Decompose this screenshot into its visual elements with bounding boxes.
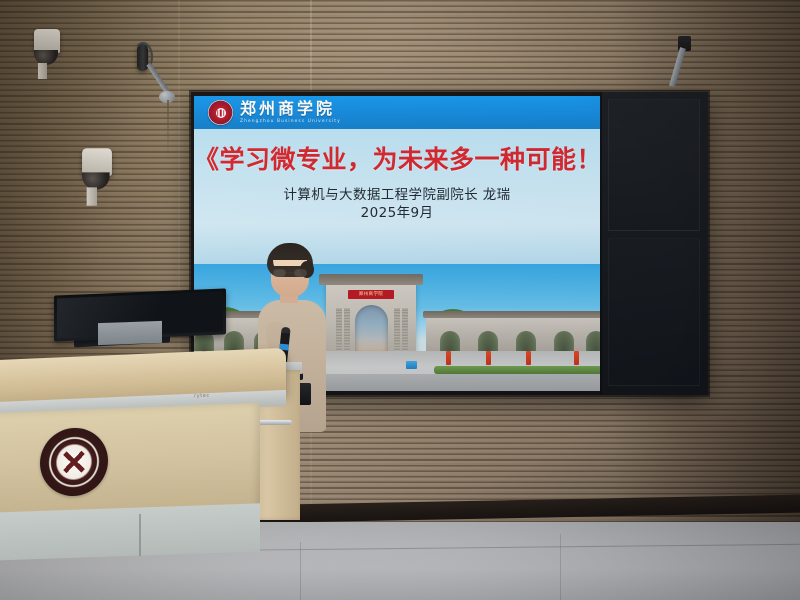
slide-header-bar: 郑州商学院 Zhengzhou Business University [194,96,600,129]
dome-camera [82,148,112,206]
spotlight [678,36,691,51]
lectern-podium: rytec [0,330,294,580]
secondary-display-panel [600,92,708,395]
dome-camera [34,29,60,79]
info-sign [406,361,417,369]
podium-brand-text: rytec [194,393,210,400]
slide-title: 《学习微专业，为未来多一种可能！》 [194,140,600,176]
spotlight [137,44,148,71]
banner [446,351,451,365]
banner [526,351,531,365]
university-name-block: 郑州商学院 Zhengzhou Business University [240,101,341,124]
main-gate: 郑州商学院 [326,280,416,354]
university-crest-logo [208,100,233,125]
podium-base-seam [139,514,141,556]
slide-subtitle-date: 2025年9月 [194,201,600,221]
university-emblem [40,427,108,498]
banner [574,351,579,365]
glasses-icon [273,269,307,277]
lecture-hall-photo: 郑州商学院 Zhengzhou Business University 《学习微… [0,0,800,600]
hedge [434,366,600,374]
slide-subtitle-presenter: 计算机与大数据工程学院副院长 龙瑞 [194,183,600,203]
podium-base [0,503,260,560]
banner [486,351,491,365]
university-name-en: Zhengzhou Business University [240,120,341,124]
university-name-cn: 郑州商学院 [240,101,341,117]
monitor-stand [98,321,162,345]
gate-sign: 郑州商学院 [348,290,394,299]
gate-wing-right [426,316,600,354]
